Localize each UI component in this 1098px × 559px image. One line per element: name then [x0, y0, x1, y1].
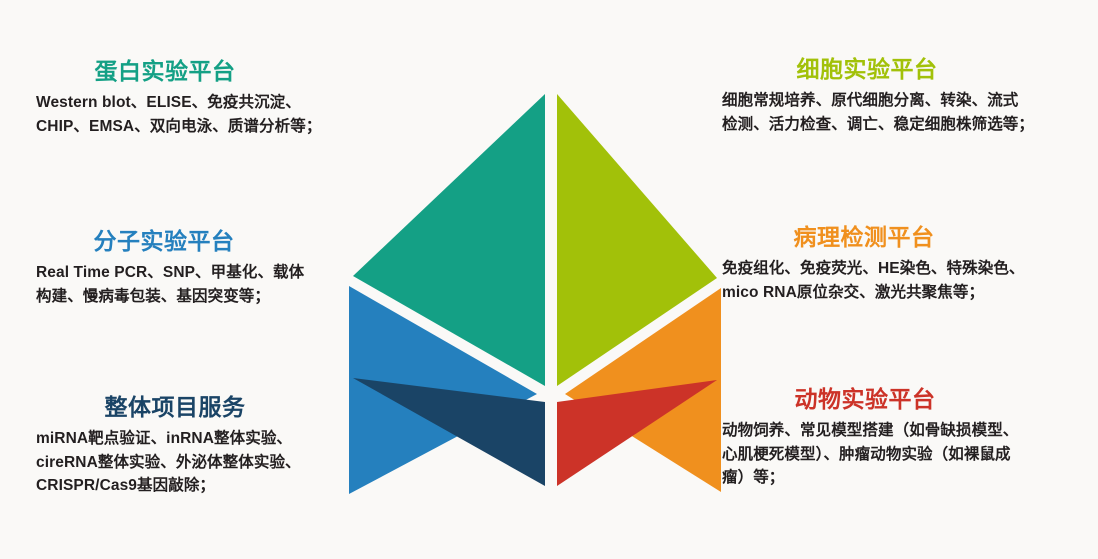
- description-line: 心肌梗死模型）、肿瘤动物实验（如裸鼠成: [722, 443, 1074, 466]
- description-line: 构建、慢病毒包装、基因突变等；: [36, 285, 356, 308]
- hexagon-diagram: [345, 86, 725, 494]
- platform-heading-molecular: 分子实验平台: [36, 228, 356, 254]
- platform-block-cell: 细胞实验平台 细胞常规培养、原代细胞分离、转染、流式 检测、活力检查、调亡、稳定…: [722, 56, 1074, 136]
- platform-description-overall: miRNA靶点验证、inRNA整体实验、 cireRNA整体实验、外泌体整体实验…: [36, 427, 366, 497]
- description-line: 瘤）等；: [722, 466, 1074, 489]
- platform-block-overall: 整体项目服务 miRNA靶点验证、inRNA整体实验、 cireRNA整体实验、…: [36, 394, 366, 497]
- description-line: miRNA靶点验证、inRNA整体实验、: [36, 427, 366, 450]
- description-line: 动物饲养、常见模型搭建（如骨缺损模型、: [722, 419, 1074, 442]
- platform-description-cell: 细胞常规培养、原代细胞分离、转染、流式 检测、活力检查、调亡、稳定细胞株筛选等；: [722, 89, 1074, 136]
- platform-heading-cell: 细胞实验平台: [722, 56, 1074, 82]
- description-line: 检测、活力检查、调亡、稳定细胞株筛选等；: [722, 113, 1074, 136]
- platform-heading-pathology: 病理检测平台: [722, 224, 1072, 250]
- description-line: CHIP、EMSA、双向电泳、质谱分析等；: [36, 115, 376, 138]
- description-line: Real Time PCR、SNP、甲基化、载体: [36, 261, 356, 284]
- description-line: Western blot、ELISE、免疫共沉淀、: [36, 91, 376, 114]
- platform-block-molecular: 分子实验平台 Real Time PCR、SNP、甲基化、载体 构建、慢病毒包装…: [36, 228, 356, 308]
- hexagon-svg: [345, 86, 725, 494]
- description-line: mico RNA原位杂交、激光共聚焦等；: [722, 281, 1072, 304]
- platform-block-protein: 蛋白实验平台 Western blot、ELISE、免疫共沉淀、 CHIP、EM…: [36, 58, 376, 138]
- platform-heading-protein: 蛋白实验平台: [36, 58, 376, 84]
- description-line: CRISPR/Cas9基因敲除；: [36, 474, 366, 497]
- platform-description-pathology: 免疫组化、免疫荧光、HE染色、特殊染色、 mico RNA原位杂交、激光共聚焦等…: [722, 257, 1072, 304]
- platform-description-protein: Western blot、ELISE、免疫共沉淀、 CHIP、EMSA、双向电泳…: [36, 91, 376, 138]
- platform-block-animal: 动物实验平台 动物饲养、常见模型搭建（如骨缺损模型、 心肌梗死模型）、肿瘤动物实…: [722, 386, 1074, 489]
- infographic-root: 蛋白实验平台 Western blot、ELISE、免疫共沉淀、 CHIP、EM…: [0, 0, 1098, 559]
- description-line: 细胞常规培养、原代细胞分离、转染、流式: [722, 89, 1074, 112]
- platform-heading-animal: 动物实验平台: [722, 386, 1074, 412]
- description-line: cireRNA整体实验、外泌体整体实验、: [36, 451, 366, 474]
- platform-block-pathology: 病理检测平台 免疫组化、免疫荧光、HE染色、特殊染色、 mico RNA原位杂交…: [722, 224, 1072, 304]
- description-line: 免疫组化、免疫荧光、HE染色、特殊染色、: [722, 257, 1072, 280]
- platform-description-molecular: Real Time PCR、SNP、甲基化、载体 构建、慢病毒包装、基因突变等；: [36, 261, 356, 308]
- platform-description-animal: 动物饲养、常见模型搭建（如骨缺损模型、 心肌梗死模型）、肿瘤动物实验（如裸鼠成 …: [722, 419, 1074, 489]
- platform-heading-overall: 整体项目服务: [36, 394, 366, 420]
